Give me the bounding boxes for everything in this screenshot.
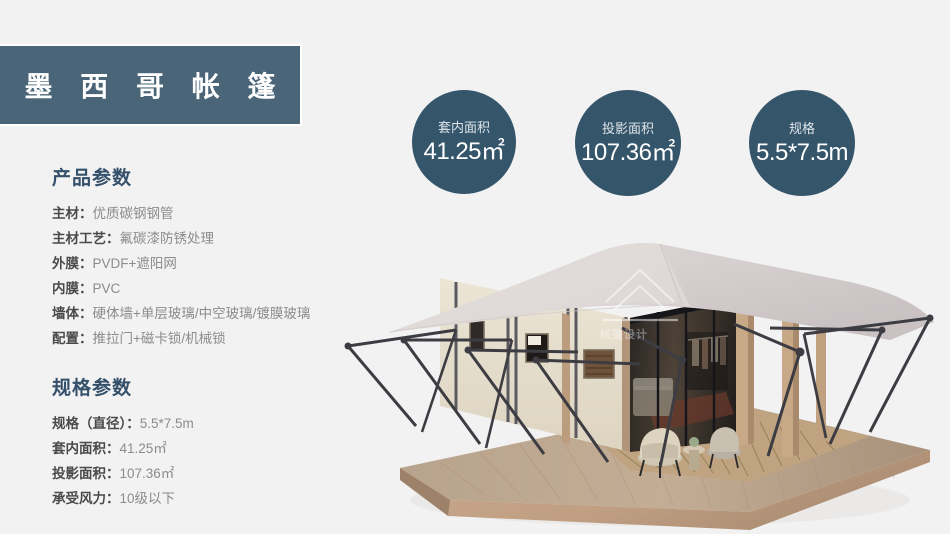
title-banner: 墨 西 哥 帐 篷 [0, 44, 302, 126]
badge-value: 107.36㎡ [581, 141, 675, 165]
spec-row: 规格（直径）：5.5*7.5m [52, 411, 352, 436]
badge-number: 107.36 [581, 139, 651, 166]
badge-unit: ㎡ [481, 138, 505, 165]
wood-post [736, 294, 748, 446]
spec-key: 主材： [52, 206, 93, 221]
spec-value: 41.25㎡ [120, 441, 167, 456]
spec-params-section: 规格参数 规格（直径）：5.5*7.5m 套内面积：41.25㎡ 投影面积：10… [52, 373, 352, 511]
badge-number: 41.25 [423, 138, 481, 165]
product-params-list: 主材：优质碳钢钢管 主材工艺：氟碳漆防锈处理 外膜：PVDF+遮阳网 内膜：PV… [52, 201, 352, 351]
watermark-text: 帐篷设计 [600, 327, 648, 341]
spec-value: 优质碳钢钢管 [93, 206, 174, 221]
page-title: 墨 西 哥 帐 篷 [14, 65, 285, 105]
spec-row: 承受风力：10级以下 [52, 486, 352, 511]
tent-illustration-svg: 帐篷设计 [330, 200, 950, 534]
badge-label: 规格 [789, 122, 815, 135]
spec-row: 主材：优质碳钢钢管 [52, 201, 352, 226]
spec-row: 投影面积：107.36㎡ [52, 461, 352, 486]
spec-value: 5.5*7.5m [140, 416, 194, 431]
spec-params-list: 规格（直径）：5.5*7.5m 套内面积：41.25㎡ 投影面积：107.36㎡… [52, 411, 352, 511]
spec-row: 外膜：PVDF+遮阳网 [52, 251, 352, 276]
spec-key: 配置： [52, 331, 93, 346]
spec-key: 投影面积： [52, 466, 120, 481]
spec-row: 配置：推拉门+磁卡锁/机械锁 [52, 326, 352, 351]
badge-value: 5.5*7.5m [756, 141, 848, 165]
spec-row: 主材工艺：氟碳漆防锈处理 [52, 226, 352, 251]
wood-post [562, 313, 570, 444]
badge-unit: ㎡ [651, 139, 675, 166]
spec-value: 氟碳漆防锈处理 [120, 231, 215, 246]
spec-value: 10级以下 [120, 491, 176, 506]
badge-number: 5.5*7.5m [756, 139, 848, 166]
spec-value: PVDF+遮阳网 [93, 256, 177, 271]
spec-key: 外膜： [52, 256, 93, 271]
badge-value: 41.25㎡ [423, 140, 504, 164]
spec-value: 硬体墙+单层玻璃/中空玻璃/镀膜玻璃 [93, 306, 311, 321]
spec-value: PVC [93, 281, 121, 296]
spec-key: 套内面积： [52, 441, 120, 456]
badge-label: 套内面积 [438, 121, 490, 134]
badge-dimensions: 规格 5.5*7.5m [749, 90, 855, 196]
product-params-heading: 产品参数 [52, 163, 352, 190]
spec-params-heading: 规格参数 [52, 373, 352, 400]
spec-value: 107.36㎡ [120, 466, 175, 481]
spec-key: 墙体： [52, 306, 93, 321]
badge-interior-area: 套内面积 41.25㎡ [412, 90, 516, 194]
spec-value: 推拉门+磁卡锁/机械锁 [93, 331, 226, 346]
spec-row: 墙体：硬体墙+单层玻璃/中空玻璃/镀膜玻璃 [52, 301, 352, 326]
spec-row: 内膜：PVC [52, 276, 352, 301]
spec-row: 套内面积：41.25㎡ [52, 436, 352, 461]
product-params-section: 产品参数 主材：优质碳钢钢管 主材工艺：氟碳漆防锈处理 外膜：PVDF+遮阳网 … [52, 163, 352, 351]
badge-projected-area: 投影面积 107.36㎡ [575, 90, 681, 196]
spec-key: 主材工艺： [52, 231, 120, 246]
specifications-panel: 产品参数 主材：优质碳钢钢管 主材工艺：氟碳漆防锈处理 外膜：PVDF+遮阳网 … [52, 163, 352, 511]
wall-window [470, 320, 484, 350]
spec-key: 规格（直径）： [52, 416, 140, 431]
slide-root: 墨 西 哥 帐 篷 产品参数 主材：优质碳钢钢管 主材工艺：氟碳漆防锈处理 外膜… [0, 0, 950, 534]
spec-key: 内膜： [52, 281, 93, 296]
spec-key: 承受风力： [52, 491, 120, 506]
tent-3d-render: 帐篷设计 [330, 200, 950, 534]
badge-label: 投影面积 [602, 122, 654, 135]
